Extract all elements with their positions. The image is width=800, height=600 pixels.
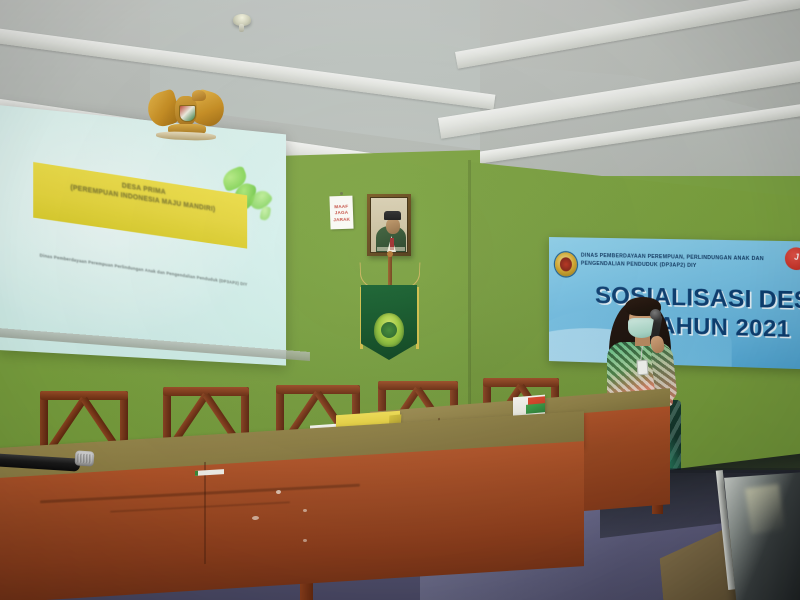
projection-screen: DESA PRIMA (PEREMPUAN INDONESIA MAJU MAN… [0,105,286,366]
garuda-pancasila-icon [148,88,224,144]
garuda-shield [179,105,196,122]
portrait-songkok-cap [384,211,401,220]
banner-badge-icon: J [785,247,800,270]
banner-badge-label: J [785,252,800,262]
panel-reflection [745,484,785,534]
table-scuff [303,539,307,542]
ceiling-light-icon [233,14,251,26]
pennant-pole-tip [387,251,393,257]
portrait-head [386,218,400,234]
government-seal-icon [555,252,577,276]
table-panel-seam [204,462,206,564]
banner-organization-text: DINAS PEMBERDAYAAN PEREMPUAN, PERLINDUNG… [581,253,765,272]
microphone-head-icon [75,450,95,466]
garuda-head [192,90,206,101]
distancing-sign-line-3: JARAK [333,216,350,222]
tissue-box-green-panel [526,403,545,414]
portrait-image [370,197,408,253]
distancing-sign-line-2: JAGA [335,210,349,215]
distancing-sign: MAAF JAGA JARAK [329,196,353,230]
pennant-emblem-icon [374,313,404,347]
framed-portrait [367,194,411,256]
garuda-ribbon [156,131,216,141]
photo-scene: DESA PRIMA (PEREMPUAN INDONESIA MAJU MAN… [0,0,800,600]
table-scuff [303,509,307,512]
pin-tack-icon [340,192,343,195]
id-badge [636,360,648,376]
distancing-sign-line-1: MAAF [334,203,348,208]
